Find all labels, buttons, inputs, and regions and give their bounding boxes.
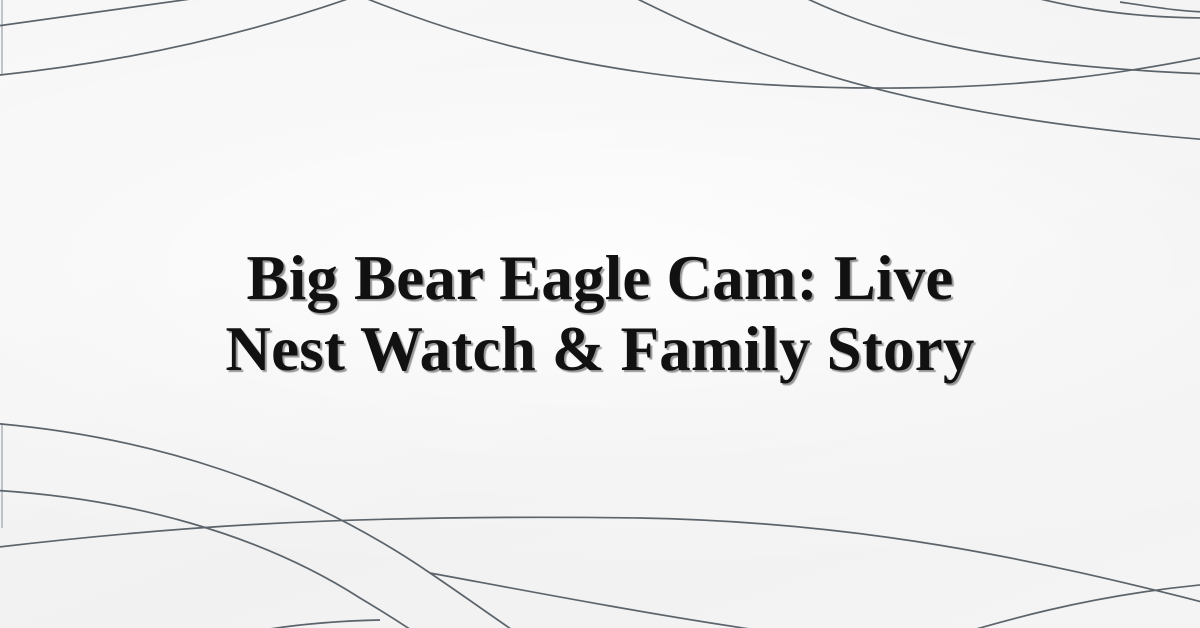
page-title-line-2: Nest Watch & Family Story bbox=[225, 314, 974, 385]
title-block: Big Bear Eagle Cam: Live Nest Watch & Fa… bbox=[0, 0, 1200, 628]
share-card: Big Bear Eagle Cam: Live Nest Watch & Fa… bbox=[0, 0, 1200, 628]
page-title-line-1: Big Bear Eagle Cam: Live bbox=[225, 243, 974, 314]
page-title: Big Bear Eagle Cam: Live Nest Watch & Fa… bbox=[225, 243, 974, 384]
